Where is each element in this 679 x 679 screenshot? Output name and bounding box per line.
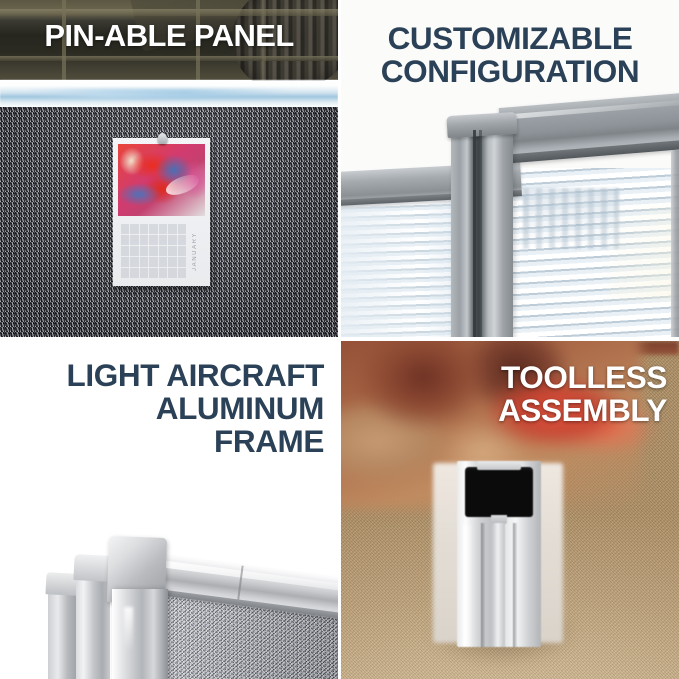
calendar-month-label: JANUARY bbox=[192, 226, 204, 276]
feature-infographic: JANUARY PIN-ABLE PANEL CUSTOMIZABLE bbox=[0, 0, 679, 679]
frame-right-mullion bbox=[671, 150, 679, 337]
calendar-date-grid bbox=[121, 224, 186, 278]
pinned-calendar: JANUARY bbox=[113, 138, 210, 286]
frame-vertical-post bbox=[451, 130, 513, 337]
aluminum-post-middle bbox=[76, 577, 110, 679]
feature-panel-toolless-assembly: TOOLLESS ASSEMBLY bbox=[341, 341, 679, 679]
aluminum-post-front bbox=[112, 589, 168, 679]
post-top-cap bbox=[446, 112, 517, 138]
office-ceiling-image bbox=[0, 0, 338, 80]
ceiling-pipe-upper bbox=[0, 9, 338, 16]
toolless-assembly-photo bbox=[341, 341, 679, 679]
calendar-artwork bbox=[118, 144, 205, 216]
feature-panel-pin-able-panel: JANUARY PIN-ABLE PANEL bbox=[0, 0, 338, 337]
window-blinds-right bbox=[513, 168, 679, 337]
customizable-configuration-photo bbox=[341, 0, 679, 337]
aluminum-extrusion-profile bbox=[457, 461, 541, 647]
assembling-hand-foreground bbox=[459, 341, 669, 481]
ceiling-light-band bbox=[0, 80, 338, 107]
ceiling-pipe-lower bbox=[0, 56, 338, 61]
aluminum-post-rear bbox=[48, 591, 76, 679]
feature-panel-light-aircraft-aluminum-frame: LIGHT AIRCRAFT ALUMINUM FRAME bbox=[0, 341, 338, 679]
extrusion-channel bbox=[465, 467, 533, 517]
ceiling-beam-2 bbox=[196, 0, 200, 80]
pin-able-panel-photo: JANUARY bbox=[0, 0, 338, 337]
aluminum-frame-photo bbox=[0, 341, 338, 679]
feature-panel-customizable-configuration: CUSTOMIZABLE CONFIGURATION bbox=[341, 0, 679, 337]
ceiling-beam-3 bbox=[262, 0, 266, 80]
push-pin-icon bbox=[158, 133, 167, 144]
ceiling-beam-1 bbox=[62, 0, 66, 80]
